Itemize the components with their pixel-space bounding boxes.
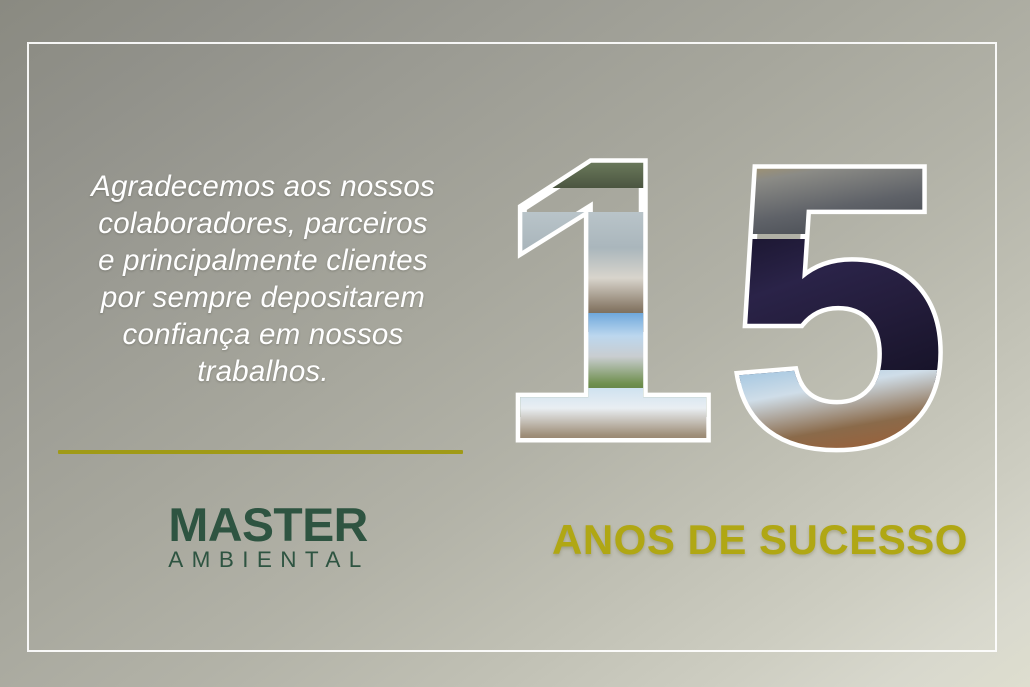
digit-five-photo-collage: 5 <box>727 106 949 506</box>
master-ambiental-logo: MASTER AMBIENTAL <box>160 503 372 574</box>
digit-one-photo-collage: 1 <box>495 100 717 500</box>
message-block: Agradecemos aos nossos colaboradores, pa… <box>48 168 478 390</box>
thank-you-message: Agradecemos aos nossos colaboradores, pa… <box>48 168 478 390</box>
anniversary-number-15: 1 1 5 5 <box>495 100 965 490</box>
anniversary-poster: Agradecemos aos nossos colaboradores, pa… <box>0 0 1030 687</box>
logo-wordmark-master: MASTER <box>160 503 376 546</box>
gold-divider-rule <box>58 450 463 454</box>
